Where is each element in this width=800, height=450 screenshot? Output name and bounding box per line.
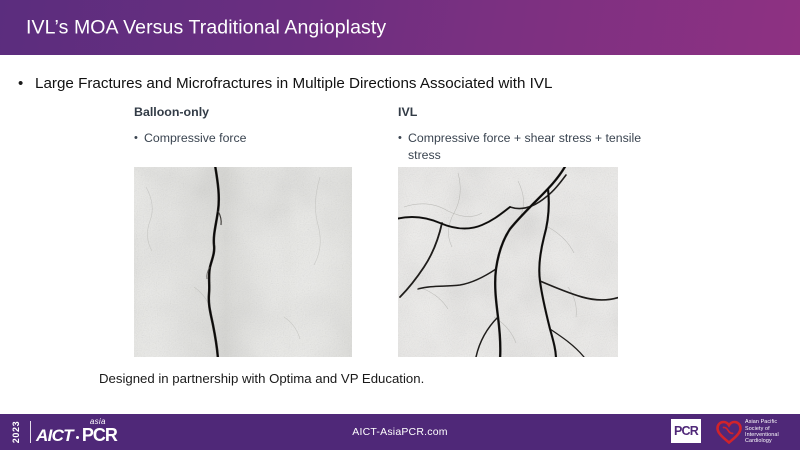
footer-divider	[30, 421, 31, 443]
column-balloon-only: Balloon-only • Compressive force	[134, 104, 384, 147]
column-subbullet-ivl: • Compressive force + shear stress + ten…	[398, 130, 676, 163]
logo-separator-dot-icon	[76, 436, 79, 439]
main-bullet: • Large Fractures and Microfractures in …	[18, 74, 778, 94]
footer-year: 2023	[2, 418, 30, 446]
column-heading-ivl: IVL	[398, 104, 676, 120]
asiapcr-logo: asia PCR	[82, 426, 117, 445]
concrete-multi-crack-photo	[398, 167, 618, 357]
aict-logo-label: AICT	[36, 427, 73, 445]
sub-bullet-marker-icon: •	[398, 130, 408, 146]
concrete-single-crack-photo	[134, 167, 352, 357]
concrete-single-crack-image	[134, 167, 352, 357]
aict-asiapcr-logo: AICT asia PCR	[36, 419, 117, 445]
slide-root: IVL’s MOA Versus Traditional Angioplasty…	[0, 0, 800, 450]
column-subbullet-label-balloon-only: Compressive force	[144, 130, 247, 147]
page-title: IVL’s MOA Versus Traditional Angioplasty	[26, 16, 386, 39]
pcr-logo-label: PCR	[82, 425, 117, 445]
concrete-multi-crack-image	[398, 167, 618, 357]
column-subbullet-balloon-only: • Compressive force	[134, 130, 384, 147]
heart-icon	[716, 420, 742, 444]
asia-logo-label: asia	[90, 418, 106, 426]
pcr-badge-label: PCR	[674, 424, 698, 438]
apsic-line-4: Cardiology	[745, 438, 779, 444]
footer-website-label: AICT-AsiaPCR.com	[352, 426, 447, 438]
slide-title-bar: IVL’s MOA Versus Traditional Angioplasty	[0, 0, 800, 55]
apsic-society-text: Asian Pacific Society of Interventional …	[742, 419, 779, 445]
column-subbullet-label-ivl: Compressive force + shear stress + tensi…	[408, 130, 676, 163]
column-heading-balloon-only: Balloon-only	[134, 104, 384, 120]
apsic-line-1: Asian Pacific	[745, 419, 779, 425]
main-bullet-label: Large Fractures and Microfractures in Mu…	[35, 74, 552, 94]
bullet-marker-icon: •	[18, 74, 35, 94]
partnership-caption: Designed in partnership with Optima and …	[99, 370, 424, 388]
footer-year-label: 2023	[11, 421, 21, 443]
column-ivl: IVL • Compressive force + shear stress +…	[398, 104, 676, 163]
pcr-badge: PCR	[671, 419, 701, 443]
sub-bullet-marker-icon: •	[134, 130, 144, 146]
apsic-society-logo: Asian Pacific Society of Interventional …	[716, 416, 798, 448]
